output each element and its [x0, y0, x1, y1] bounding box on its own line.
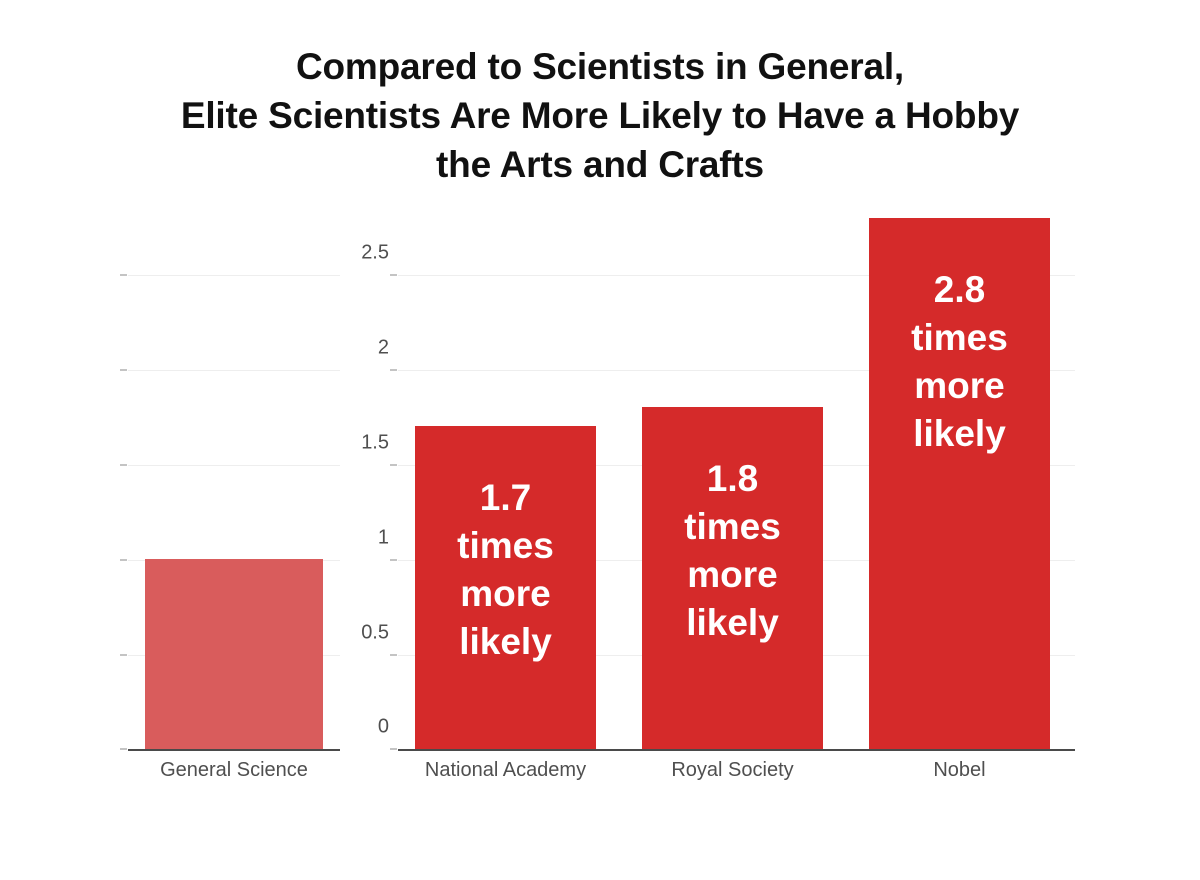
chart-panel-reference: General Science: [128, 190, 340, 751]
ytick-dash-2_5: [390, 275, 397, 276]
x-axis-line-left: [128, 749, 340, 751]
chart-figure: Compared to Scientists in General, Elite…: [0, 0, 1200, 880]
ytick-dash-1_5: [120, 465, 127, 466]
ytick-dash-0: [120, 749, 127, 750]
ytick-dash-1: [120, 560, 127, 561]
ytick-label-1_5: 1.5: [361, 432, 389, 455]
ytick-dash-0_5: [120, 655, 127, 656]
bar-value-label-nobel: 2.8 times more likely: [869, 266, 1050, 458]
ytick-dash-0: [390, 749, 397, 750]
ytick-label-0: 0: [378, 716, 389, 739]
ytick-label-0_5: 0.5: [361, 622, 389, 645]
bar-general-science[interactable]: [145, 559, 323, 749]
xtick-label-national-academy: National Academy: [415, 759, 596, 782]
xtick-label-general-science: General Science: [145, 759, 323, 782]
bar-value-label-royal-society: 1.8 times more likely: [642, 455, 823, 647]
ytick-label-1: 1: [378, 527, 389, 550]
xtick-label-royal-society: Royal Society: [642, 759, 823, 782]
gridline-2: [128, 370, 340, 371]
gridline-2_5: [128, 275, 340, 276]
ytick-dash-2: [120, 370, 127, 371]
bar-royal-society[interactable]: 1.8 times more likely: [642, 407, 823, 749]
ytick-dash-1_5: [390, 465, 397, 466]
chart-title: Compared to Scientists in General, Elite…: [0, 42, 1200, 189]
ytick-dash-1: [390, 560, 397, 561]
xtick-label-nobel: Nobel: [869, 759, 1050, 782]
gridline-1_5: [128, 465, 340, 466]
bar-national-academy[interactable]: 1.7 times more likely: [415, 426, 596, 749]
ytick-dash-2_5: [120, 275, 127, 276]
bar-nobel[interactable]: 2.8 times more likely: [869, 218, 1050, 750]
ytick-label-2: 2: [378, 337, 389, 360]
chart-panel-elite: 2.5 2 1.5 1 0.5 0 1.7 times more likely …: [398, 190, 1075, 751]
bar-value-label-national-academy: 1.7 times more likely: [415, 474, 596, 666]
x-axis-line-right: [398, 749, 1075, 751]
ytick-dash-2: [390, 370, 397, 371]
ytick-dash-0_5: [390, 655, 397, 656]
ytick-label-2_5: 2.5: [361, 242, 389, 265]
